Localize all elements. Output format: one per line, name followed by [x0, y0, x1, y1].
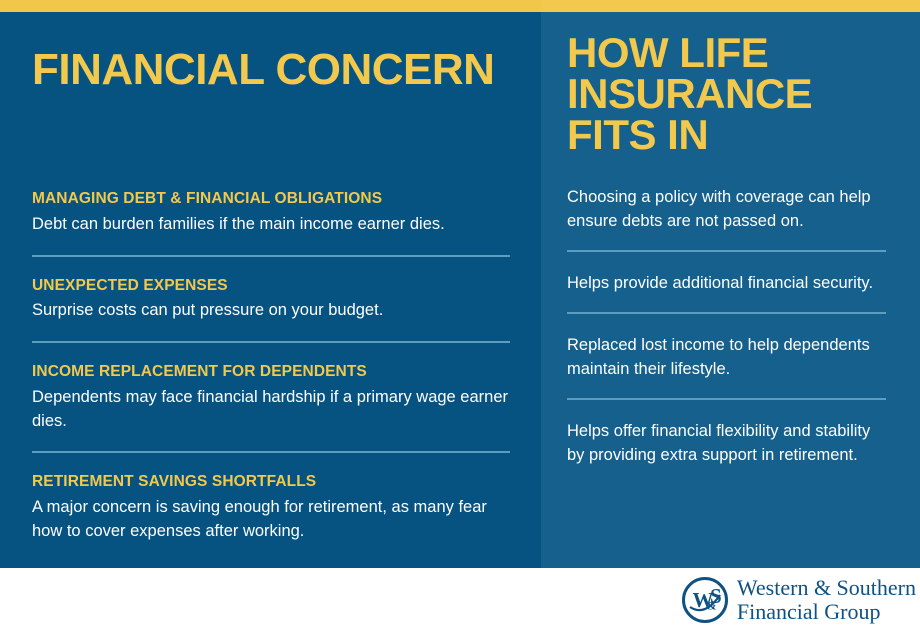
financial-concern-list: MANAGING DEBT & FINANCIAL OBLIGATIONS De… — [32, 190, 510, 544]
insurance-fit-list: Choosing a policy with coverage can help… — [567, 186, 886, 467]
insurance-row: Helps offer financial flexibility and st… — [567, 398, 886, 468]
left-column-heading: FINANCIAL CONCERN — [32, 48, 502, 91]
concern-body: Debt can burden families if the main inc… — [32, 213, 510, 237]
insurance-body: Choosing a policy with coverage can help… — [567, 186, 886, 234]
logo-wordmark: Western & Southern Financial Group — [737, 576, 916, 624]
concern-title: RETIREMENT SAVINGS SHORTFALLS — [32, 473, 510, 492]
insurance-row: Choosing a policy with coverage can help… — [567, 186, 886, 250]
concern-body: Dependents may face financial hardship i… — [32, 386, 510, 434]
row-divider — [32, 341, 510, 343]
insurance-body: Replaced lost income to help dependents … — [567, 334, 886, 382]
western-southern-logo: W & S Western & Southern Financial Group — [682, 576, 916, 624]
concern-row: MANAGING DEBT & FINANCIAL OBLIGATIONS De… — [32, 190, 510, 255]
insurance-row: Helps provide additional financial secur… — [567, 250, 886, 312]
insurance-body: Helps offer financial flexibility and st… — [567, 420, 886, 468]
logo-line-2: Financial Group — [737, 600, 916, 624]
concern-body: Surprise costs can put pressure on your … — [32, 299, 510, 323]
concern-row: INCOME REPLACEMENT FOR DEPENDENTS Depend… — [32, 341, 510, 451]
row-divider — [32, 255, 510, 257]
concern-body: A major concern is saving enough for ret… — [32, 496, 510, 544]
row-divider — [32, 451, 510, 453]
top-accent-bar — [0, 0, 920, 12]
concern-title: INCOME REPLACEMENT FOR DEPENDENTS — [32, 363, 510, 382]
concern-row: UNEXPECTED EXPENSES Surprise costs can p… — [32, 255, 510, 342]
footer: W & S Western & Southern Financial Group — [0, 568, 920, 626]
logo-line-1: Western & Southern — [737, 575, 916, 600]
top-accent-bar-right — [541, 0, 920, 12]
row-divider — [567, 312, 886, 314]
concern-title: MANAGING DEBT & FINANCIAL OBLIGATIONS — [32, 190, 510, 209]
infographic-page: FINANCIAL CONCERN HOW LIFE INSURANCE FIT… — [0, 0, 920, 626]
row-divider — [567, 398, 886, 400]
insurance-body: Helps provide additional financial secur… — [567, 272, 886, 296]
insurance-row: Replaced lost income to help dependents … — [567, 312, 886, 398]
concern-title: UNEXPECTED EXPENSES — [32, 277, 510, 296]
ws-monogram-icon: W & S — [682, 577, 728, 623]
concern-row: RETIREMENT SAVINGS SHORTFALLS A major co… — [32, 451, 510, 543]
top-accent-bar-left — [0, 0, 541, 12]
row-divider — [567, 250, 886, 252]
right-column-heading: HOW LIFE INSURANCE FITS IN — [567, 32, 907, 155]
